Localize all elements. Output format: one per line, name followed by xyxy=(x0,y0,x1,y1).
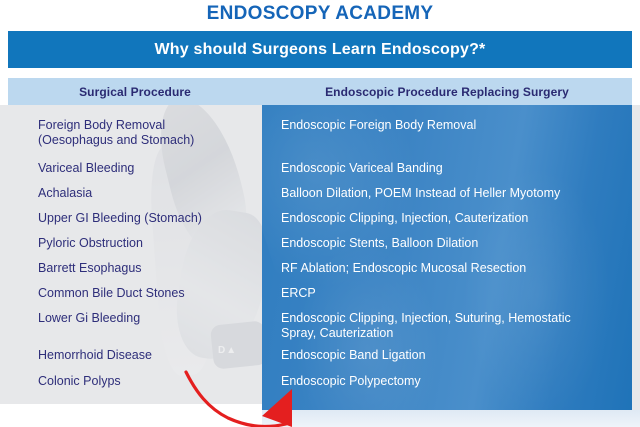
table-row: Common Bile Duct Stones xyxy=(38,286,260,301)
cell-endoscopic: Endoscopic Clipping, Injection, Suturing… xyxy=(281,311,629,340)
cell-endoscopic: Endoscopic Foreign Body Removal xyxy=(281,118,629,133)
table-row: Endoscopic Polypectomy xyxy=(281,374,629,389)
table-row: Foreign Body Removal (Oesophagus and Sto… xyxy=(38,118,260,147)
column-header-endoscopic: Endoscopic Procedure Replacing Surgery xyxy=(262,78,632,105)
cell-surgical: Hemorrhoid Disease xyxy=(38,348,260,363)
endoscopic-procedure-column: Endoscopic Foreign Body Removal Endoscop… xyxy=(262,105,632,422)
table-row: Colonic Polyps xyxy=(38,374,260,389)
table-row: Upper GI Bleeding (Stomach) xyxy=(38,211,260,226)
question-banner-text: Why should Surgeons Learn Endoscopy?* xyxy=(155,41,486,59)
table-row: Endoscopic Clipping, Injection, Cauteriz… xyxy=(281,211,629,226)
table-row: Endoscopic Clipping, Injection, Suturing… xyxy=(281,311,629,340)
table-row: RF Ablation; Endoscopic Mucosal Resectio… xyxy=(281,261,629,276)
cell-endoscopic: ERCP xyxy=(281,286,629,301)
cell-endoscopic: Balloon Dilation, POEM Instead of Heller… xyxy=(281,186,629,201)
cell-surgical: Pyloric Obstruction xyxy=(38,236,260,251)
column-header-surgical-label: Surgical Procedure xyxy=(79,85,191,99)
table-row: Achalasia xyxy=(38,186,260,201)
table-row: Endoscopic Band Ligation xyxy=(281,348,629,363)
cell-surgical: Foreign Body Removal (Oesophagus and Sto… xyxy=(38,118,260,147)
table-row: Lower Gi Bleeding xyxy=(38,311,260,326)
slide: ENDOSCOPY ACADEMY Why should Surgeons Le… xyxy=(0,0,640,427)
table-row: ERCP xyxy=(281,286,629,301)
cell-endoscopic: Endoscopic Band Ligation xyxy=(281,348,629,363)
table-row: Endoscopic Foreign Body Removal xyxy=(281,118,629,133)
column-header-endoscopic-label: Endoscopic Procedure Replacing Surgery xyxy=(325,85,569,99)
cell-endoscopic: Endoscopic Variceal Banding xyxy=(281,161,629,176)
table-row: Endoscopic Stents, Balloon Dilation xyxy=(281,236,629,251)
cell-surgical: Achalasia xyxy=(38,186,260,201)
cell-endoscopic: RF Ablation; Endoscopic Mucosal Resectio… xyxy=(281,261,629,276)
question-banner: Why should Surgeons Learn Endoscopy?* xyxy=(8,31,632,68)
cell-surgical: Colonic Polyps xyxy=(38,374,260,389)
banner-gap xyxy=(0,68,640,78)
surgical-procedure-column: Foreign Body Removal (Oesophagus and Sto… xyxy=(0,105,262,422)
cell-endoscopic: Endoscopic Polypectomy xyxy=(281,374,629,389)
table-row: Pyloric Obstruction xyxy=(38,236,260,251)
table-row: Barrett Esophagus xyxy=(38,261,260,276)
page-title: ENDOSCOPY ACADEMY xyxy=(207,3,434,25)
cell-surgical: Common Bile Duct Stones xyxy=(38,286,260,301)
slide-title-bar: ENDOSCOPY ACADEMY xyxy=(0,0,640,28)
table-row: Variceal Bleeding xyxy=(38,161,260,176)
cell-endoscopic: Endoscopic Clipping, Injection, Cauteriz… xyxy=(281,211,629,226)
table-row: Balloon Dilation, POEM Instead of Heller… xyxy=(281,186,629,201)
cell-surgical: Variceal Bleeding xyxy=(38,161,260,176)
cell-endoscopic: Endoscopic Stents, Balloon Dilation xyxy=(281,236,629,251)
cell-surgical: Barrett Esophagus xyxy=(38,261,260,276)
column-header-surgical: Surgical Procedure xyxy=(8,78,262,105)
cell-surgical: Lower Gi Bleeding xyxy=(38,311,260,326)
table-row: Hemorrhoid Disease xyxy=(38,348,260,363)
table-row: Endoscopic Variceal Banding xyxy=(281,161,629,176)
cell-surgical: Upper GI Bleeding (Stomach) xyxy=(38,211,260,226)
bottom-strip-left xyxy=(0,404,262,427)
